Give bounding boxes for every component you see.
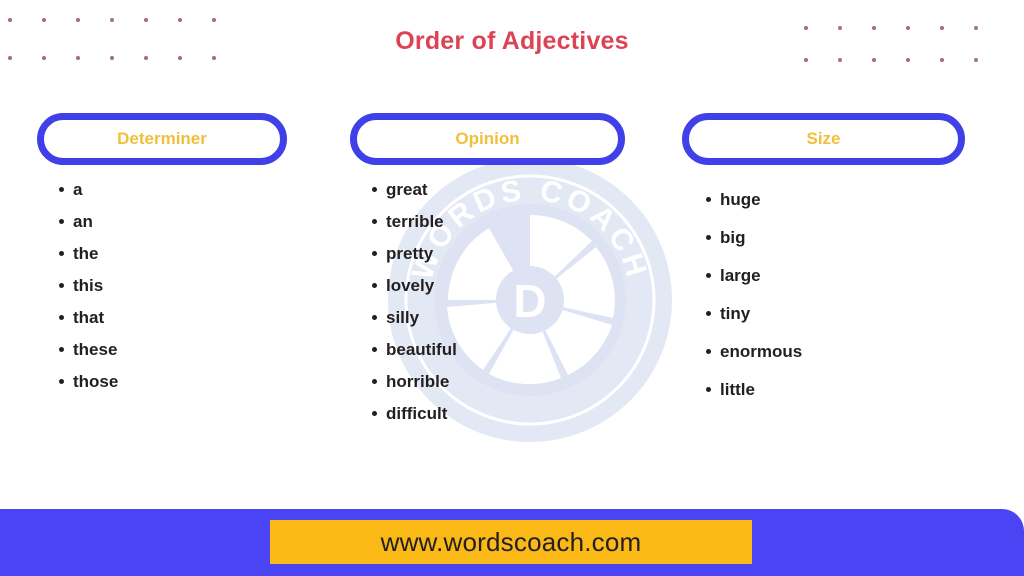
list-item: enormous xyxy=(682,343,965,360)
decorative-dot xyxy=(906,58,910,62)
list-item: huge xyxy=(682,191,965,208)
list-item: a xyxy=(37,181,287,198)
list-item: little xyxy=(682,381,965,398)
list-item: great xyxy=(350,181,625,198)
list-item: horrible xyxy=(350,373,625,390)
column-size: Size huge big large tiny enormous little xyxy=(682,113,965,419)
list-item: terrible xyxy=(350,213,625,230)
decorative-dot xyxy=(872,58,876,62)
list-item: that xyxy=(37,309,287,326)
list-item: those xyxy=(37,373,287,390)
decorative-dot xyxy=(178,18,182,22)
list-item: big xyxy=(682,229,965,246)
decorative-dot xyxy=(110,18,114,22)
website-url[interactable]: www.wordscoach.com xyxy=(381,527,642,558)
decorative-dot xyxy=(144,18,148,22)
decorative-dot xyxy=(76,18,80,22)
category-header-opinion: Opinion xyxy=(350,113,625,165)
adjective-columns: Determiner a an the this that these thos… xyxy=(0,113,1024,503)
decorative-dot xyxy=(42,56,46,60)
column-opinion: Opinion great terrible pretty lovely sil… xyxy=(350,113,625,437)
list-item: an xyxy=(37,213,287,230)
footer-band: www.wordscoach.com xyxy=(0,509,1024,576)
decorative-dot xyxy=(144,56,148,60)
list-item: tiny xyxy=(682,305,965,322)
list-item: beautiful xyxy=(350,341,625,358)
decorative-dot xyxy=(804,58,808,62)
word-list-size: huge big large tiny enormous little xyxy=(682,165,965,398)
category-header-size: Size xyxy=(682,113,965,165)
page-title: Order of Adjectives xyxy=(0,27,1024,56)
decorative-dot xyxy=(110,56,114,60)
footer-url-bar: www.wordscoach.com xyxy=(270,520,752,564)
decorative-dot xyxy=(940,58,944,62)
decorative-dot xyxy=(838,58,842,62)
list-item: pretty xyxy=(350,245,625,262)
list-item: lovely xyxy=(350,277,625,294)
decorative-dot xyxy=(76,56,80,60)
list-item: silly xyxy=(350,309,625,326)
list-item: these xyxy=(37,341,287,358)
decorative-dot xyxy=(974,58,978,62)
category-header-determiner: Determiner xyxy=(37,113,287,165)
decorative-dot xyxy=(178,56,182,60)
decorative-dot xyxy=(42,18,46,22)
list-item: the xyxy=(37,245,287,262)
list-item: large xyxy=(682,267,965,284)
decorative-dot xyxy=(8,18,12,22)
decorative-dot xyxy=(8,56,12,60)
list-item: difficult xyxy=(350,405,625,422)
column-determiner: Determiner a an the this that these thos… xyxy=(37,113,287,405)
decorative-dot xyxy=(212,18,216,22)
decorative-dot xyxy=(212,56,216,60)
list-item: this xyxy=(37,277,287,294)
word-list-determiner: a an the this that these those xyxy=(37,165,287,390)
word-list-opinion: great terrible pretty lovely silly beaut… xyxy=(350,165,625,422)
